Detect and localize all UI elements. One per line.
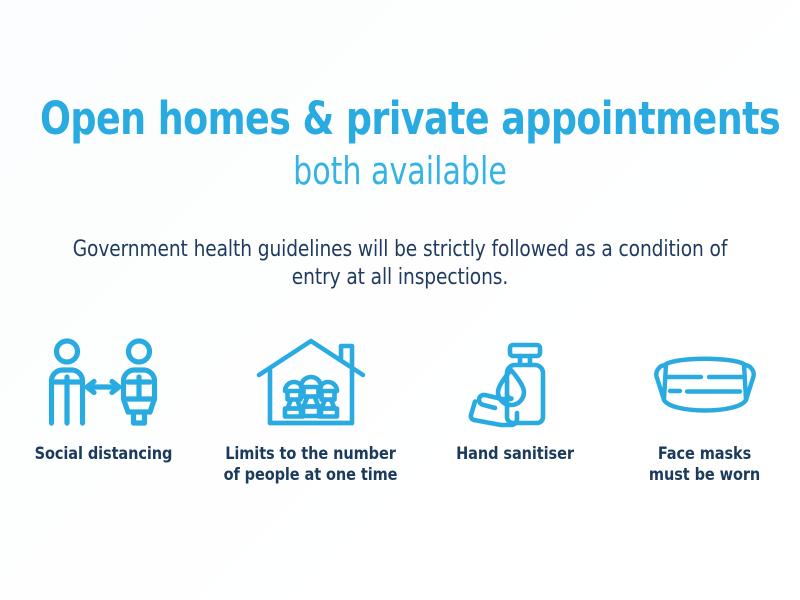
hand-sanitiser-icon — [467, 337, 563, 429]
feature-caption-line: Face masks — [649, 444, 760, 465]
page-subtitle: both available — [48, 150, 752, 194]
feature-caption-line: Hand sanitiser — [456, 444, 574, 465]
feature-occupancy-limit: Limits to the number of people at one ti… — [206, 337, 416, 485]
feature-caption-line: Limits to the number — [224, 444, 398, 465]
feature-caption-line: Social distancing — [34, 444, 172, 465]
body-copy-line-2: entry at all inspections. — [62, 264, 739, 293]
body-copy: Government health guidelines will be str… — [40, 236, 760, 293]
safety-measures-row: Social distancing — [5, 337, 795, 485]
body-copy-line-1: Government health guidelines will be str… — [62, 236, 739, 265]
feature-social-distancing: Social distancing — [5, 337, 201, 465]
covid-safety-poster: Open homes & private appointments both a… — [0, 0, 800, 600]
feature-hand-sanitiser: Hand sanitiser — [420, 337, 610, 465]
headline-block: Open homes & private appointments both a… — [0, 96, 800, 194]
feature-caption: Face masks must be worn — [646, 444, 763, 485]
face-mask-icon — [649, 337, 761, 429]
feature-caption: Limits to the number of people at one ti… — [219, 444, 402, 485]
social-distancing-icon — [40, 337, 166, 429]
feature-caption-line: must be worn — [649, 465, 760, 486]
feature-caption: Hand sanitiser — [453, 444, 577, 465]
page-title: Open homes & private appointments — [40, 96, 760, 142]
feature-caption: Social distancing — [31, 444, 176, 465]
feature-caption-line: of people at one time — [224, 465, 398, 486]
feature-face-mask: Face masks must be worn — [615, 337, 795, 485]
house-occupancy-limit-icon — [255, 337, 367, 429]
